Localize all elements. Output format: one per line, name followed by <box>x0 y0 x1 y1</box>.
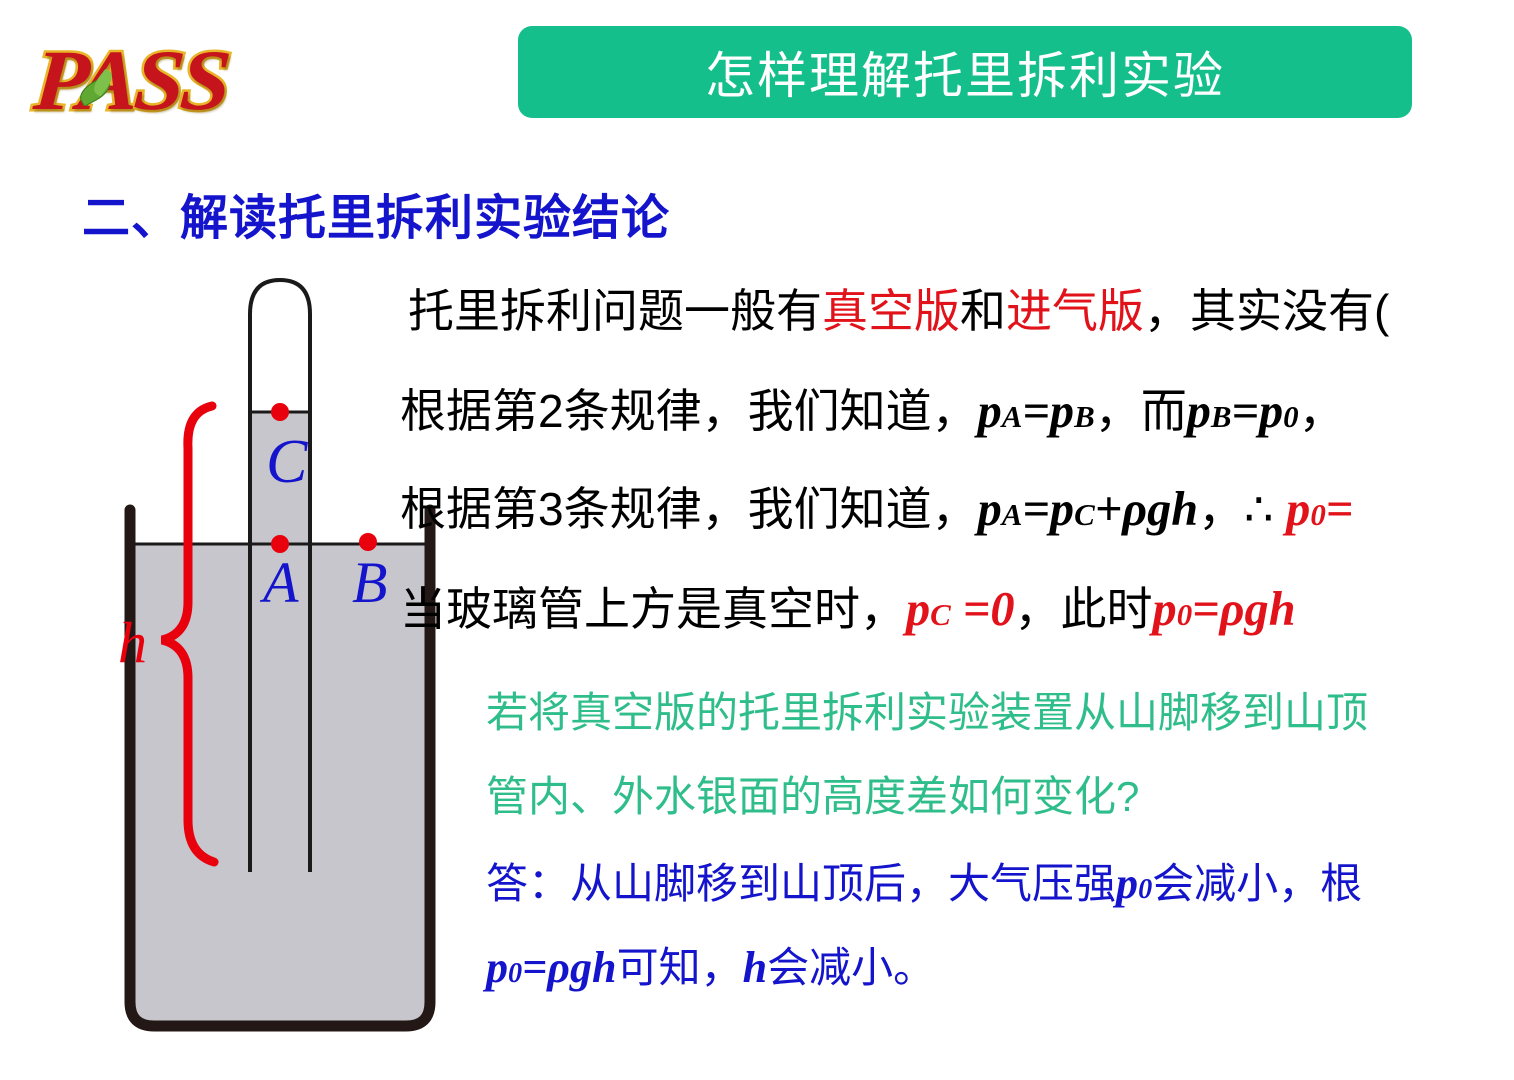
l3-p0-eq: = <box>1326 483 1354 536</box>
pass-logo: PASS <box>38 26 288 138</box>
p0-sub: 0 <box>1283 399 1298 434</box>
body-line-1: 托里拆利问题一般有真空版和进气版，其实没有( <box>408 288 1389 334</box>
therefore-symbol: ∴ <box>1244 483 1273 535</box>
line2-seg3: ， <box>1299 385 1345 437</box>
pa-sub: A <box>1002 399 1023 434</box>
question-line-1: 若将真空版的托里拆利实验装置从山脚移到山顶 <box>486 692 1368 734</box>
line2-seg2: ，而 <box>1095 385 1187 437</box>
line1-seg1: 托里拆利问题一般有 <box>408 285 822 337</box>
line4-seg1: 当玻璃管上方是真空时， <box>400 583 906 635</box>
pb-p: p <box>1050 385 1074 438</box>
formula-pc-zero: pC =0 <box>906 583 1015 636</box>
l3-pa-sub: A <box>1002 497 1023 532</box>
line1-highlight-airin: 进气版 <box>1006 285 1144 337</box>
a2-rgh: =ρgh <box>522 943 616 992</box>
l4-pc-eq: =0 <box>951 583 1015 636</box>
line1-seg3: 和 <box>960 285 1006 337</box>
answer-h: h <box>743 943 768 992</box>
height-label: h <box>118 610 147 675</box>
line3-seg1: 根据第3条规律，我们知道， <box>400 483 978 535</box>
l3-p0-sub: 0 <box>1310 497 1325 532</box>
l4-pc-sub: C <box>930 597 951 632</box>
l4-pc-p: p <box>906 583 930 636</box>
line4-seg2: ，此时 <box>1015 583 1153 635</box>
page-title: 怎样理解托里拆利实验 <box>705 36 1225 108</box>
point-b-dot <box>359 533 377 551</box>
body-line-2: 根据第2条规律，我们知道，pA=pB，而pB=p0， <box>400 388 1345 436</box>
l3-pc-sub: C <box>1074 497 1095 532</box>
pa-eq: = <box>1022 385 1050 438</box>
body-line-4: 当玻璃管上方是真空时，pC =0，此时p0=ρgh <box>400 586 1296 634</box>
answer-seg3: 可知， <box>617 944 743 991</box>
line1-seg5: ，其实没有( <box>1144 285 1389 337</box>
point-b-label: B <box>352 550 387 615</box>
pa-p: p <box>978 385 1002 438</box>
answer-seg2: 会减小，根 <box>1152 860 1362 907</box>
p0-p: p <box>1259 385 1283 438</box>
l3-p0-p: p <box>1286 483 1310 536</box>
formula-pa-pc-rgh: pA=pC+ρgh <box>978 483 1199 536</box>
section-heading: 二、解读托里拆利实验结论 <box>82 178 670 248</box>
line3-seg2: ， <box>1198 483 1244 535</box>
l4-p0-p: p <box>1153 583 1177 636</box>
question-line-2: 管内、外水银面的高度差如何变化? <box>486 776 1139 818</box>
slide-canvas: PASS 怎样理解托里拆利实验 二、解读托里拆利实验结论 <box>0 0 1514 1080</box>
formula-pb-p0: pB=p0 <box>1187 385 1299 438</box>
line1-highlight-vacuum: 真空版 <box>822 285 960 337</box>
pass-logo-text: PASS <box>31 30 231 130</box>
pb-sub: B <box>1074 399 1095 434</box>
a2-p0-p: p <box>486 943 508 992</box>
answer-seg1: 答：从山脚移到山顶后，大气压强 <box>486 860 1116 907</box>
answer-line-1: 答：从山脚移到山顶后，大气压强p0会减小，根 <box>486 862 1362 906</box>
pb2-sub: B <box>1211 399 1232 434</box>
pb2-p: p <box>1187 385 1211 438</box>
line2-seg1: 根据第2条规律，我们知道， <box>400 385 978 437</box>
answer-formula-p0-rgh: p0=ρgh <box>486 943 617 992</box>
l3-pc-p: p <box>1050 483 1074 536</box>
a2-p0-sub: 0 <box>508 958 522 989</box>
answer-p0: p0 <box>1116 859 1152 908</box>
l3-rgh: +ρgh <box>1095 483 1198 536</box>
l4-p0-rest: =ρgh <box>1192 583 1295 636</box>
l3-eq: = <box>1022 483 1050 536</box>
a-p0-sub: 0 <box>1138 874 1152 905</box>
pb2-eq: = <box>1231 385 1259 438</box>
answer-line-2: p0=ρgh可知，h会减小。 <box>486 946 935 990</box>
point-a-label: A <box>259 550 299 615</box>
point-c-dot <box>271 403 289 421</box>
answer-seg4: 会减小。 <box>767 944 935 991</box>
title-banner: 怎样理解托里拆利实验 <box>518 26 1412 118</box>
body-line-3: 根据第3条规律，我们知道，pA=pC+ρgh，∴ p0= <box>400 486 1353 534</box>
formula-p0-rgh: p0=ρgh <box>1153 583 1296 636</box>
a-p0-p: p <box>1116 859 1138 908</box>
formula-pa-pb: pA=pB <box>978 385 1095 438</box>
l4-p0-sub: 0 <box>1177 597 1192 632</box>
l3-pa-p: p <box>978 483 1002 536</box>
formula-p0-red-partial: p0= <box>1286 483 1353 536</box>
point-c-label: C <box>266 428 308 496</box>
